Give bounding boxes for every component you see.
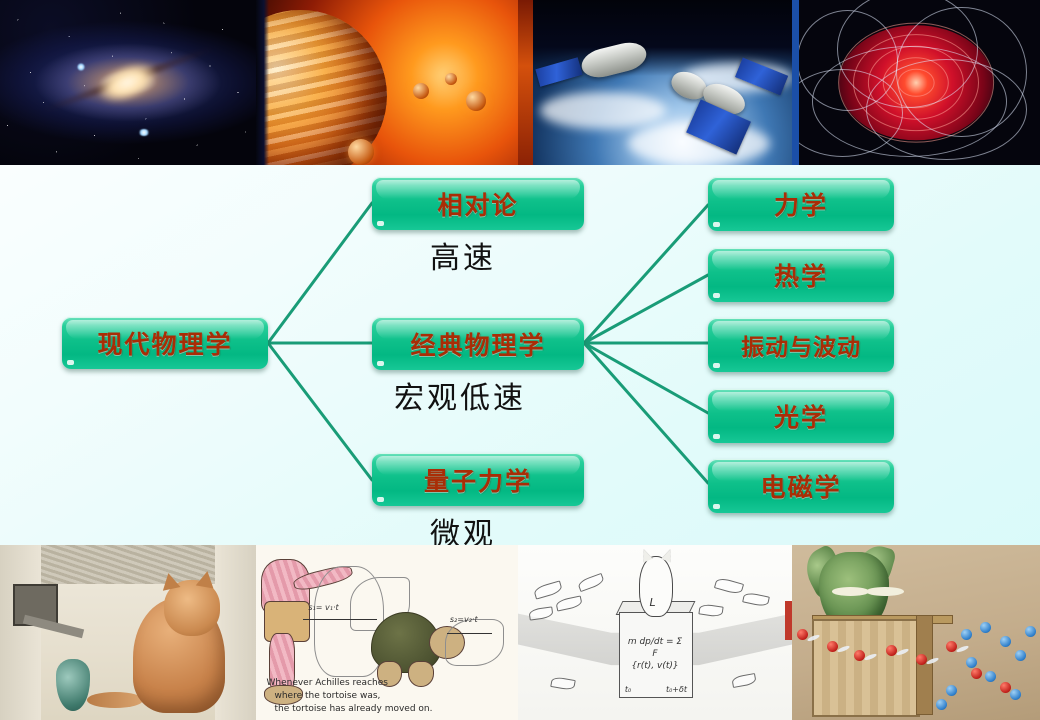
- top-image-strip: [0, 0, 1040, 165]
- node-modern-physics[interactable]: 现代物理学: [62, 317, 268, 369]
- particle-event-photo: [792, 0, 1040, 165]
- node-thermodynamics[interactable]: 热学: [708, 248, 894, 302]
- node-relativity[interactable]: 相对论: [372, 177, 584, 230]
- galaxy-photo: [0, 0, 256, 165]
- maxwell-demon-illustration: [792, 545, 1040, 720]
- schrodinger-cat-illustration: [0, 545, 256, 720]
- node-label: 量子力学: [424, 462, 532, 498]
- node-electromagnetism[interactable]: 电磁学: [708, 459, 894, 513]
- node-mechanics[interactable]: 力学: [708, 177, 894, 231]
- node-label: 经典物理学: [410, 326, 545, 362]
- physics-branch-diagram: 现代物理学 相对论 高速 经典物理学 宏观低速 量子力学 微观 力学 热学 振动…: [0, 165, 1040, 545]
- node-label: 力学: [774, 186, 828, 222]
- achilles-tortoise-illustration: s₁= v₁·t s₂=v₂·t Whenever Achilles reach…: [256, 545, 518, 720]
- node-quantum-mechanics[interactable]: 量子力学: [372, 453, 584, 506]
- spacecraft-photo: [518, 0, 792, 165]
- achilles-caption: Whenever Achilles reaches where the tort…: [266, 677, 512, 716]
- laplace-label-t0: t₀: [625, 685, 631, 694]
- node-optics[interactable]: 光学: [708, 389, 894, 443]
- node-label: 热学: [774, 257, 828, 293]
- laplace-cube-letter: L: [650, 596, 656, 609]
- bottom-image-strip: s₁= v₁·t s₂=v₂·t Whenever Achilles reach…: [0, 545, 1040, 720]
- node-classical-physics[interactable]: 经典物理学: [372, 317, 584, 370]
- laplace-demon-illustration: m dp/dt = Σ F {r(t), v(t)} t₀ t₀+δt L: [518, 545, 792, 720]
- laplace-equation: m dp/dt = Σ F {r(t), v(t)}: [628, 636, 683, 672]
- node-label: 光学: [774, 398, 828, 434]
- node-label: 振动与波动: [741, 328, 861, 362]
- gas-giant-photo: [256, 0, 518, 165]
- slide-canvas: 现代物理学 相对论 高速 经典物理学 宏观低速 量子力学 微观 力学 热学 振动…: [0, 0, 1040, 720]
- caption-relativity: 高速: [430, 233, 496, 277]
- achilles-equation-right: s₂=v₂·t: [450, 615, 478, 624]
- achilles-equation-left: s₁= v₁·t: [308, 603, 338, 612]
- node-vibration-and-waves[interactable]: 振动与波动: [708, 318, 894, 372]
- node-label: 相对论: [437, 186, 518, 222]
- node-label: 现代物理学: [97, 325, 232, 361]
- node-label: 电磁学: [760, 468, 841, 504]
- laplace-label-t0-dt: t₀+δt: [666, 685, 687, 694]
- caption-classical-physics: 宏观低速: [394, 373, 526, 417]
